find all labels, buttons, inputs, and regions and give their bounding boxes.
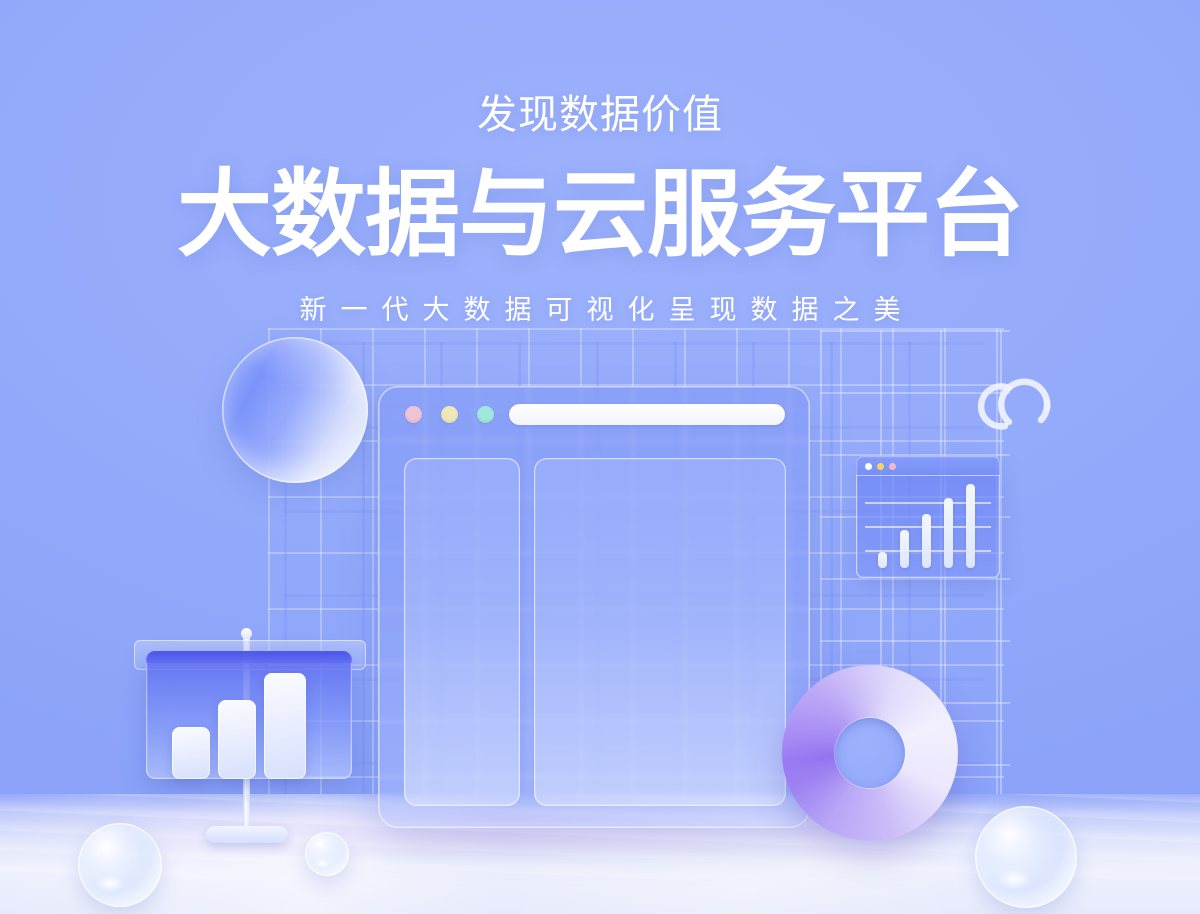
glass-ball-right xyxy=(975,806,1077,908)
hero-banner: 发现数据价值 大数据与云服务平台 新一代大数据可视化呈现数据之美 xyxy=(0,0,1200,914)
display-stand-base xyxy=(206,826,288,843)
content-pane[interactable] xyxy=(534,458,786,806)
panel-header-strip xyxy=(146,651,352,663)
page-title: 大数据与云服务平台 xyxy=(0,168,1200,263)
mini-window-titlebar xyxy=(856,456,1000,476)
chart-bar xyxy=(172,727,210,779)
hero-eyebrow: 发现数据价值 xyxy=(0,95,1200,135)
glass-ball-left xyxy=(78,823,162,907)
dot-yellow-icon[interactable] xyxy=(877,463,884,470)
dot-white-icon[interactable] xyxy=(865,463,872,470)
mini-bar xyxy=(966,484,975,568)
donut-chart-hole xyxy=(835,718,905,788)
display-stand-cap xyxy=(241,628,252,639)
mini-bar xyxy=(878,552,887,568)
mini-bar xyxy=(944,498,953,568)
close-dot[interactable] xyxy=(405,406,422,423)
minimize-dot[interactable] xyxy=(441,406,458,423)
main-browser-mockup[interactable] xyxy=(378,386,810,828)
mini-bar xyxy=(922,514,931,568)
chart-bar xyxy=(218,700,256,779)
sidebar-pane[interactable] xyxy=(404,458,520,806)
cloud-icon xyxy=(975,362,1065,436)
hero-subtitle: 新一代大数据可视化呈现数据之美 xyxy=(0,297,1200,324)
browser-titlebar xyxy=(378,386,810,442)
address-bar[interactable] xyxy=(509,404,785,425)
glass-ball-middle xyxy=(305,832,349,876)
maximize-dot[interactable] xyxy=(477,406,494,423)
glass-disc xyxy=(222,337,368,483)
chart-bar xyxy=(264,673,306,779)
mini-bar xyxy=(900,530,909,568)
mini-analytics-window[interactable] xyxy=(856,456,1000,578)
dot-pink-icon[interactable] xyxy=(889,463,896,470)
